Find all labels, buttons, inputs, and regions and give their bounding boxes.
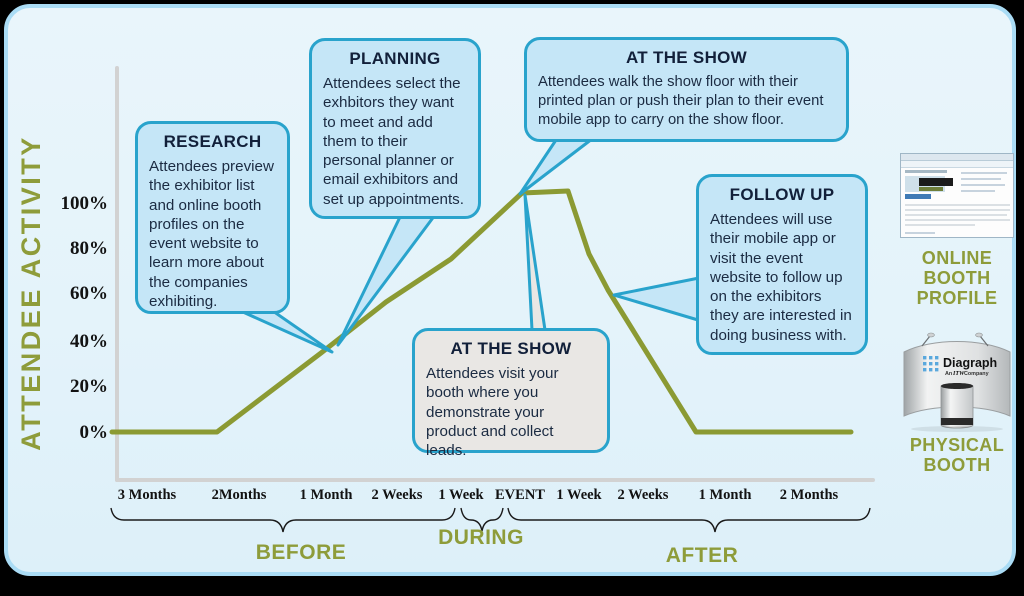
x-tick-1-week-after: 1 Week [556,487,601,504]
phase-label-during: DURING [438,526,524,550]
callout-at-the-show-top-title: AT THE SHOW [538,48,835,68]
y-axis-ticks: 100% 80% 60% 40% 20% 0% [38,8,108,596]
x-tick-2-weeks-after: 2 Weeks [618,487,669,504]
online-booth-profile-thumbnail[interactable] [900,153,1014,238]
callout-research-body: Attendees preview the exhibitor list and… [149,157,276,311]
tail-planning [338,211,438,345]
bracket-after [508,508,870,532]
callout-planning[interactable]: PLANNING Attendees select the exhbitors … [309,38,481,219]
online-booth-label-line-1: ONLINE [892,248,1022,268]
y-tick-60: 60% [46,283,108,305]
y-tick-100: 100% [46,193,108,215]
x-axis-ticks: 3 Months 2Months 1 Month 2 Weeks 1 Week … [108,487,888,507]
x-tick-1-week: 1 Week [438,487,483,504]
y-tick-20: 20% [46,376,108,398]
x-tick-event: EVENT [495,487,545,504]
x-tick-2-months-after: 2 Months [780,487,838,504]
online-booth-label-line-2: BOOTH [892,268,1022,288]
physical-booth-illustration[interactable]: Diagraph An ITW Company [892,330,1022,432]
physical-booth-label-line-2: BOOTH [892,455,1022,475]
x-tick-1-month: 1 Month [300,487,353,504]
callout-research[interactable]: RESEARCH Attendees preview the exhibitor… [135,121,290,314]
tail-follow-up [614,278,699,320]
callout-follow-up[interactable]: FOLLOW UP Attendees will use their mobil… [696,174,868,355]
y-tick-80: 80% [46,238,108,260]
online-booth-label-line-3: PROFILE [892,288,1022,308]
physical-booth-label-line-1: PHYSICAL [892,435,1022,455]
callout-planning-title: PLANNING [323,49,467,69]
callout-at-the-show-top[interactable]: AT THE SHOW Attendees walk the show floo… [524,37,849,142]
phase-label-before: BEFORE [256,541,347,565]
svg-text:Diagraph: Diagraph [943,356,997,370]
callout-follow-up-title: FOLLOW UP [710,185,854,205]
y-tick-0: 0% [46,422,108,444]
screenshot-root: ATTENDEE ACTIVITY 100% 80% 60% 40% 20% 0… [0,0,1024,588]
tail-at-the-show-booth [525,195,545,330]
callout-at-the-show-booth-title: AT THE SHOW [426,339,596,359]
callout-at-the-show-booth[interactable]: AT THE SHOW Attendees visit your booth w… [412,328,610,453]
phase-label-after: AFTER [666,544,739,568]
y-axis-line [115,66,119,482]
callout-at-the-show-booth-body: Attendees visit your booth where you dem… [426,364,596,460]
x-tick-1-month-after: 1 Month [699,487,752,504]
online-booth-profile-label: ONLINE BOOTH PROFILE [892,248,1022,308]
x-tick-2-weeks: 2 Weeks [372,487,423,504]
callout-at-the-show-top-body: Attendees walk the show floor with their… [538,73,835,131]
physical-booth-label: PHYSICAL BOOTH [892,435,1022,475]
tail-at-the-show-top [520,139,592,194]
x-tick-2-months: 2Months [212,487,267,504]
callout-follow-up-body: Attendees will use their mobile app or v… [710,210,854,345]
infographic-panel: ATTENDEE ACTIVITY 100% 80% 60% 40% 20% 0… [4,4,1016,576]
x-tick-3-months: 3 Months [118,487,176,504]
x-axis-line [115,478,875,482]
svg-text:An: An [945,371,952,377]
bracket-before [111,508,455,532]
callout-planning-body: Attendees select the exhbitors they want… [323,74,467,209]
callout-research-title: RESEARCH [149,132,276,152]
svg-text:Company: Company [964,371,989,377]
y-tick-40: 40% [46,331,108,353]
